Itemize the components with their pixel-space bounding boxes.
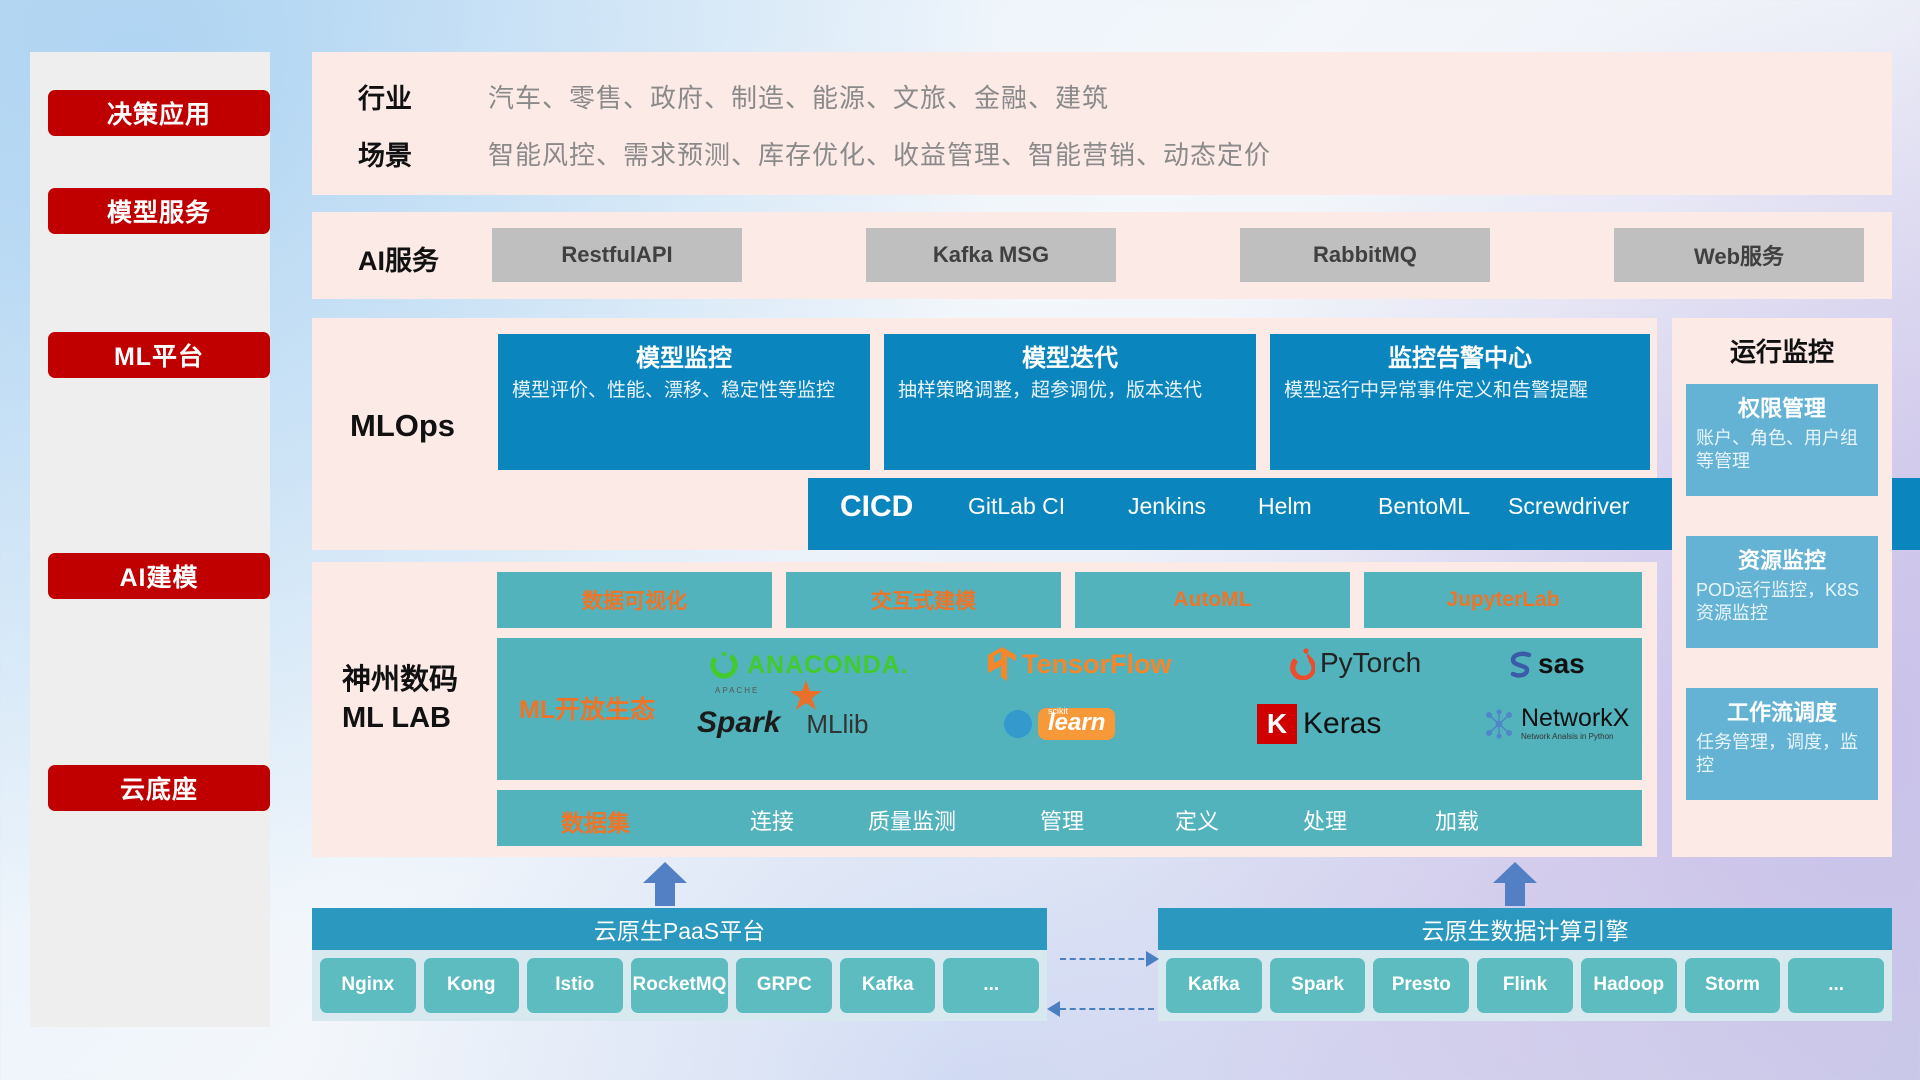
rail-item-decision-app[interactable]: 决策应用 — [48, 90, 270, 136]
keras-wordmark: Keras — [1303, 707, 1381, 741]
cloud-group-compute-engine: 云原生数据计算引擎 Kafka Spark Presto Flink Hadoo… — [1158, 908, 1892, 1021]
ml-ecosystem-box: ML开放生态 ANACONDA. TensorFlow PyTorch sas — [497, 638, 1642, 780]
card-title: 模型迭代 — [898, 344, 1242, 374]
card-title: 监控告警中心 — [1284, 344, 1636, 374]
rail-item-ml-platform[interactable]: ML平台 — [48, 332, 270, 378]
industry-label: 行业 — [358, 77, 488, 116]
scenario-label: 场景 — [358, 134, 488, 173]
scenario-values: 智能风控、需求预测、库存优化、收益管理、智能营销、动态定价 — [488, 135, 1271, 172]
lab-chip-automl[interactable]: AutoML — [1075, 572, 1350, 628]
ai-chip-rabbitmq[interactable]: RabbitMQ — [1240, 228, 1490, 282]
industry-row: 行业 汽车、零售、政府、制造、能源、文旅、金融、建筑 — [358, 70, 1109, 122]
engine-tile-tray: Kafka Spark Presto Flink Hadoop Storm ..… — [1158, 950, 1892, 1021]
ml-ecosystem-label: ML开放生态 — [519, 690, 655, 726]
ai-chip-restfulapi[interactable]: RestfulAPI — [492, 228, 742, 282]
ai-chip-web-service[interactable]: Web服务 — [1614, 228, 1864, 282]
industry-values: 汽车、零售、政府、制造、能源、文旅、金融、建筑 — [488, 78, 1109, 115]
pytorch-logo: PyTorch — [1287, 646, 1421, 680]
keras-mark-icon: K — [1257, 704, 1297, 744]
paas-tile-kafka[interactable]: Kafka — [840, 958, 936, 1013]
paas-tile-rocketmq[interactable]: RocketMQ — [631, 958, 729, 1013]
card-title: 模型监控 — [512, 344, 856, 374]
runtime-monitoring-panel: 运行监控 权限管理 账户、角色、用户组等管理 资源监控 POD运行监控，K8S资… — [1672, 318, 1892, 857]
rail-item-cloud-base[interactable]: 云底座 — [48, 765, 270, 811]
card-desc: 抽样策略调整，超参调优，版本迭代 — [898, 378, 1242, 404]
spark-wordmark: Spark — [697, 706, 780, 739]
paas-tile-istio[interactable]: Istio — [527, 958, 623, 1013]
lab-chip-interactive-modeling[interactable]: 交互式建模 — [786, 572, 1061, 628]
paas-tile-nginx[interactable]: Nginx — [320, 958, 416, 1013]
lab-chip-data-viz[interactable]: 数据可视化 — [497, 572, 772, 628]
engine-tile-kafka[interactable]: Kafka — [1166, 958, 1262, 1013]
dataset-op-process[interactable]: 处理 — [1265, 804, 1385, 836]
scikit-wordmark: scikit — [1048, 706, 1068, 716]
engine-tile-more[interactable]: ... — [1788, 958, 1884, 1013]
connector-left-line — [1060, 1008, 1154, 1010]
diagram-canvas: 决策应用 模型服务 ML平台 AI建模 云底座 行业 汽车、零售、政府、制造、能… — [0, 0, 1920, 1080]
cicd-label: CICD — [840, 490, 913, 524]
engine-header: 云原生数据计算引擎 — [1158, 908, 1892, 950]
scenario-row: 场景 智能风控、需求预测、库存优化、收益管理、智能营销、动态定价 — [358, 127, 1271, 179]
connector-right-arrowhead-icon — [1146, 951, 1159, 967]
industry-scenario-panel: 行业 汽车、零售、政府、制造、能源、文旅、金融、建筑 场景 智能风控、需求预测、… — [312, 52, 1892, 195]
card-title: 资源监控 — [1696, 543, 1868, 575]
paas-tile-kong[interactable]: Kong — [424, 958, 520, 1013]
tensorflow-logo: TensorFlow — [987, 646, 1172, 682]
networkx-wordmark: NetworkX — [1521, 706, 1629, 731]
scikit-learn-logo: scikit learn — [1002, 708, 1115, 740]
mlops-card-model-iteration[interactable]: 模型迭代 抽样策略调整，超参调优，版本迭代 — [884, 334, 1256, 470]
mlops-card-alert-center[interactable]: 监控告警中心 模型运行中异常事件定义和告警提醒 — [1270, 334, 1650, 470]
spark-mllib-logo: APACHE Spark MLlib — [697, 706, 869, 740]
engine-tile-hadoop[interactable]: Hadoop — [1581, 958, 1677, 1013]
cicd-tool-screwdriver[interactable]: Screwdriver — [1508, 492, 1658, 521]
card-desc: 账户、角色、用户组等管理 — [1696, 427, 1868, 474]
dataset-label: 数据集 — [561, 804, 630, 838]
dataset-op-define[interactable]: 定义 — [1137, 804, 1257, 836]
mlops-card-model-monitoring[interactable]: 模型监控 模型评价、性能、漂移、稳定性等监控 — [498, 334, 870, 470]
card-title: 工作流调度 — [1696, 695, 1868, 727]
apache-wordmark: APACHE — [715, 686, 759, 695]
paas-header: 云原生PaaS平台 — [312, 908, 1047, 950]
dataset-op-quality[interactable]: 质量监测 — [852, 804, 972, 836]
spark-star-icon — [789, 680, 823, 717]
dataset-op-manage[interactable]: 管理 — [1002, 804, 1122, 836]
pytorch-wordmark: PyTorch — [1320, 647, 1421, 679]
cloud-group-paas: 云原生PaaS平台 Nginx Kong Istio RocketMQ GRPC… — [312, 908, 1047, 1021]
mlops-label: MLOps — [350, 408, 455, 444]
card-desc: 任务管理，调度，监控 — [1696, 731, 1868, 778]
dataset-op-load[interactable]: 加载 — [1397, 804, 1517, 836]
ai-service-panel: AI服务 RestfulAPI Kafka MSG RabbitMQ Web服务 — [312, 212, 1892, 299]
engine-tile-storm[interactable]: Storm — [1685, 958, 1781, 1013]
engine-tile-spark[interactable]: Spark — [1270, 958, 1366, 1013]
connector-left-arrowhead-icon — [1047, 1001, 1060, 1017]
connector-right-line — [1060, 958, 1154, 960]
card-title: 权限管理 — [1696, 391, 1868, 423]
engine-tile-flink[interactable]: Flink — [1477, 958, 1573, 1013]
mon-card-resource[interactable]: 资源监控 POD运行监控，K8S资源监控 — [1686, 536, 1878, 648]
dataset-op-connect[interactable]: 连接 — [712, 804, 832, 836]
tensorflow-wordmark: TensorFlow — [1022, 649, 1172, 680]
networkx-logo: NetworkX Network Analsis in Python — [1482, 706, 1629, 741]
sas-wordmark: sas — [1538, 648, 1585, 680]
cicd-tool-helm[interactable]: Helm — [1258, 492, 1378, 521]
card-desc: 模型评价、性能、漂移、稳定性等监控 — [512, 378, 856, 404]
ai-service-label: AI服务 — [358, 239, 439, 278]
cicd-tool-jenkins[interactable]: Jenkins — [1128, 492, 1248, 521]
mon-card-workflow[interactable]: 工作流调度 任务管理，调度，监控 — [1686, 688, 1878, 800]
ml-lab-panel: 神州数码 ML LAB 数据可视化 交互式建模 AutoML JupyterLa… — [312, 562, 1657, 857]
engine-tile-presto[interactable]: Presto — [1373, 958, 1469, 1013]
card-desc: POD运行监控，K8S资源监控 — [1696, 579, 1868, 626]
up-arrow-paas-icon — [642, 862, 688, 906]
rail-item-model-service[interactable]: 模型服务 — [48, 188, 270, 234]
networkx-tagline: Network Analsis in Python — [1521, 733, 1629, 741]
anaconda-wordmark: ANACONDA. — [747, 651, 909, 680]
cicd-tool-bentoml[interactable]: BentoML — [1378, 492, 1498, 521]
mlops-panel: MLOps 模型监控 模型评价、性能、漂移、稳定性等监控 模型迭代 抽样策略调整… — [312, 318, 1657, 550]
sas-logo: sas — [1507, 648, 1585, 680]
paas-tile-grpc[interactable]: GRPC — [736, 958, 832, 1013]
ai-chip-kafka-msg[interactable]: Kafka MSG — [866, 228, 1116, 282]
anaconda-logo: ANACONDA. — [707, 648, 909, 682]
card-desc: 模型运行中异常事件定义和告警提醒 — [1284, 378, 1636, 404]
dataset-bar: 数据集 连接 质量监测 管理 定义 处理 加载 — [497, 790, 1642, 846]
mon-card-permission[interactable]: 权限管理 账户、角色、用户组等管理 — [1686, 384, 1878, 496]
up-arrow-engine-icon — [1492, 862, 1538, 906]
rail-item-ai-modeling[interactable]: AI建模 — [48, 553, 270, 599]
paas-tile-tray: Nginx Kong Istio RocketMQ GRPC Kafka ... — [312, 950, 1047, 1021]
cicd-tool-gitlab-ci[interactable]: GitLab CI — [968, 492, 1088, 521]
keras-logo: K Keras — [1257, 704, 1381, 744]
runtime-monitoring-title: 运行监控 — [1672, 332, 1892, 369]
lab-chip-jupyterlab[interactable]: JupyterLab — [1364, 572, 1642, 628]
paas-tile-more[interactable]: ... — [943, 958, 1039, 1013]
